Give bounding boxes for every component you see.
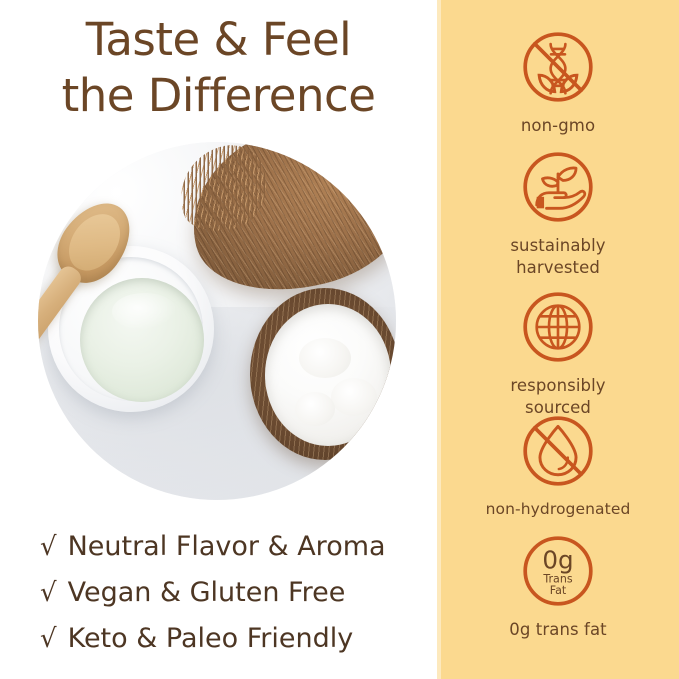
badge-label-line-1: sustainably [510,236,605,255]
badge-responsibly-sourced: responsibly sourced [437,286,679,419]
feature-list: √ Neutral Flavor & Aroma √ Vegan & Glute… [40,524,430,662]
oil-lump [299,338,351,378]
badge-zero-trans-fat: 0g Trans Fat 0g trans fat [437,530,679,640]
zero-trans-fat-icon: 0g Trans Fat [517,530,599,612]
no-droplet-icon [517,410,599,492]
badge-label: non-hydrogenated [437,499,679,520]
badge-label: 0g trans fat [437,619,679,640]
headline-line-1: Taste & Feel [0,12,437,68]
list-item: √ Vegan & Gluten Free [40,570,430,616]
trans-fat-amount: 0g [542,546,573,575]
product-feature-graphic: Taste & Feel the Difference [0,0,679,679]
spoon-handle [38,263,85,382]
hand-holding-sprout-icon [517,146,599,228]
list-item: √ Keto & Paleo Friendly [40,616,430,662]
badge-label-line-1: responsibly [510,376,605,395]
certification-badges-panel: non-gmo sustainably harvested [437,0,679,679]
check-icon: √ [40,570,57,616]
badge-label: non-gmo [437,115,679,136]
trans-fat-word-fat: Fat [550,584,567,597]
product-photo [38,142,396,500]
half-coconut-with-oil [250,288,396,460]
oil-lump [331,378,377,416]
oil-lump [295,392,335,426]
page-title: Taste & Feel the Difference [0,12,437,124]
headline-line-2: the Difference [0,68,437,124]
badge-non-hydrogenated: non-hydrogenated [437,410,679,520]
list-item-label: Neutral Flavor & Aroma [68,524,386,570]
badge-label-line-2: harvested [516,258,600,277]
badge-label: sustainably harvested [437,235,679,279]
product-photo-scene [38,142,396,500]
globe-icon [517,286,599,368]
left-content-column: Taste & Feel the Difference [0,0,437,679]
list-item-label: Vegan & Gluten Free [68,570,346,616]
coconut-oil-in-shell [265,304,391,446]
list-item-label: Keto & Paleo Friendly [68,616,354,662]
badge-sustainably-harvested: sustainably harvested [437,146,679,279]
check-icon: √ [40,616,57,662]
badge-non-gmo: non-gmo [437,26,679,136]
list-item: √ Neutral Flavor & Aroma [40,524,430,570]
check-icon: √ [40,524,57,570]
non-gmo-dna-icon [517,26,599,108]
